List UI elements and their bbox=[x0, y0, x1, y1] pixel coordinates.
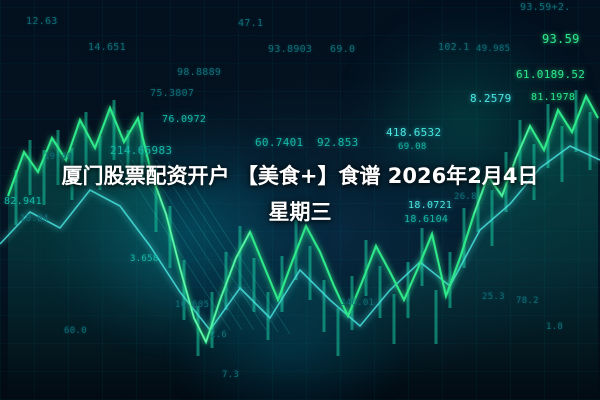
stock-chart-image: 93.5993.59+2.61.0189.528.257981.1978418.… bbox=[0, 0, 600, 400]
chart-lines bbox=[0, 0, 600, 400]
